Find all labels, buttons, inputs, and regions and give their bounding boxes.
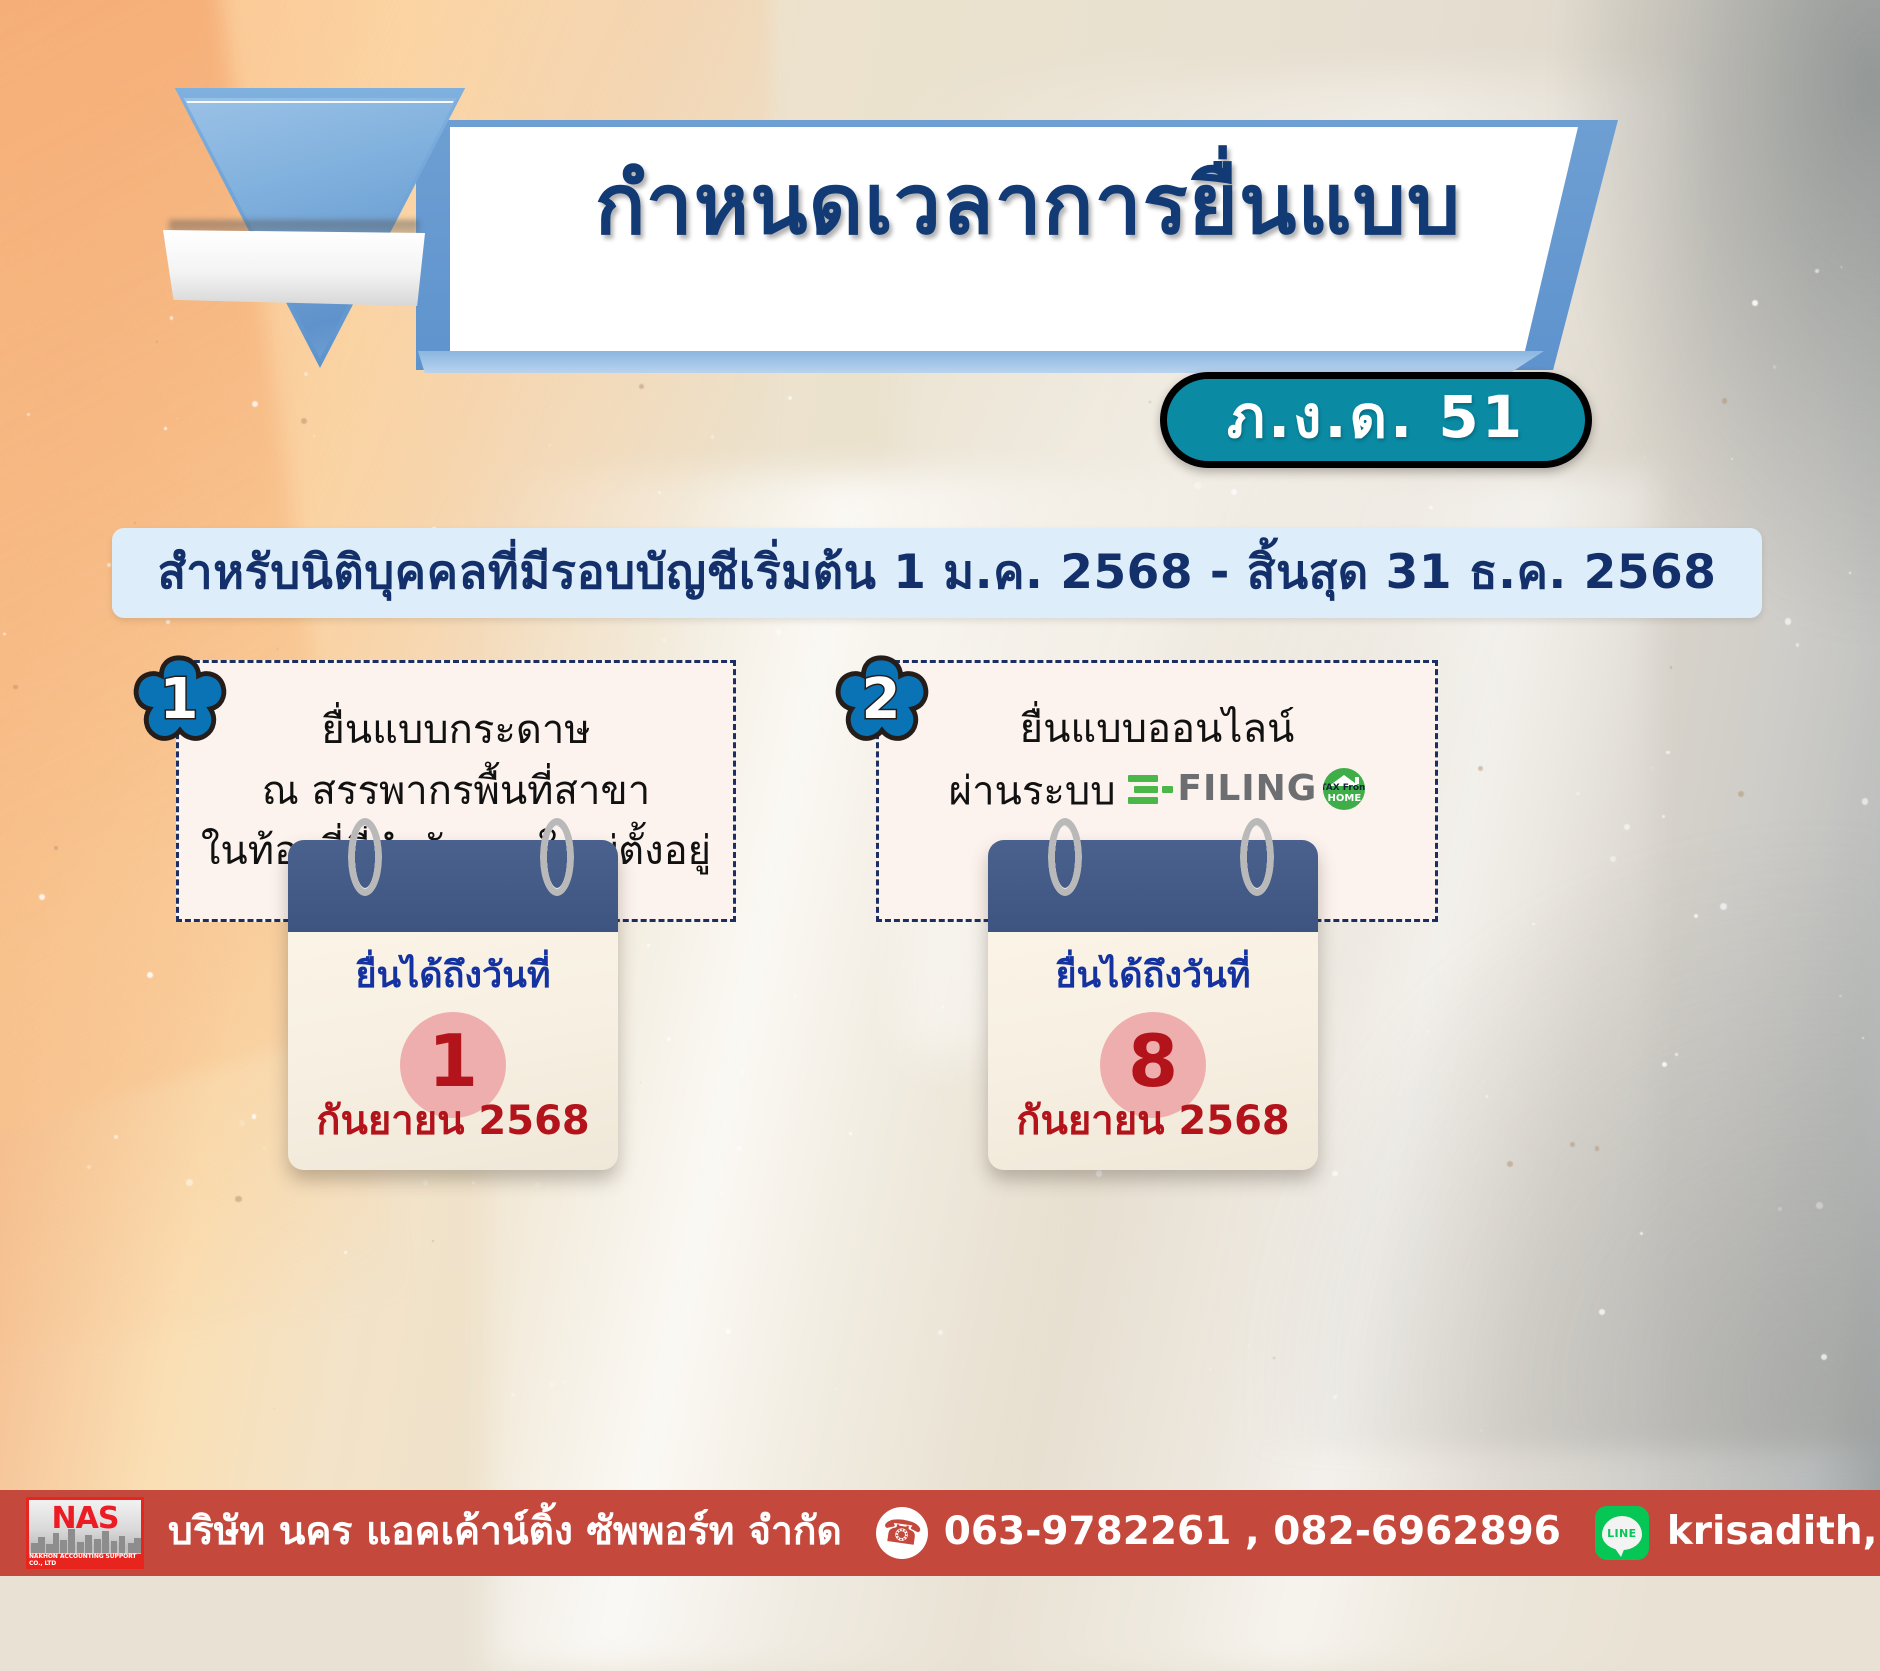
efiling-dash-icon [1162, 786, 1173, 793]
contact-footer: NAS NAKHON ACCOUNTING SUPPORT CO., LTD บ… [0, 1490, 1880, 1576]
calendar-2-month-year: กันยายน 2568 [988, 1088, 1318, 1152]
method-2-line-2-prefix: ผ่านระบบ [949, 768, 1116, 814]
calendar-ring-icon [348, 818, 382, 896]
accounting-period-text: สำหรับนิติบุคคลที่มีรอบบัญชีเริ่มต้น 1 ม… [158, 534, 1717, 609]
line-app-icon: LINE [1595, 1506, 1649, 1560]
method-2-number-badge: 2 [832, 652, 930, 750]
tax-from-label: TAX From [1323, 784, 1365, 793]
home-label: HOME [1328, 794, 1362, 804]
line-bubble-icon: LINE [1602, 1516, 1642, 1550]
triangle-funnel-icon [155, 88, 485, 368]
deadline-calendar-2: ยื่นได้ถึงวันที่ 8 กันยายน 2568 [988, 818, 1318, 1170]
footer-phone-numbers: 063-9782261 , 082-6962896 [944, 1509, 1561, 1554]
method-2-line-2: ผ่านระบบ FILING TAX From HOME [949, 760, 1366, 822]
page-title: กำหนดเวลาการยื่นแบบ [488, 148, 1568, 261]
footer-line-ids: krisadith, krisadithtk [1667, 1509, 1880, 1554]
calendar-ring-icon [1240, 818, 1274, 896]
method-1-number: 1 [130, 650, 228, 748]
form-code-label: ภ.ง.ด. 51 [1227, 370, 1525, 463]
efiling-e-icon [1128, 772, 1158, 806]
efiling-logo: FILING TAX From HOME [1128, 762, 1365, 817]
method-2-number: 2 [832, 650, 930, 748]
method-1-line-2: ณ สรรพากรพื้นที่สาขา [201, 761, 711, 822]
triangle-white-band [163, 230, 425, 306]
phone-icon: ☎ [876, 1507, 928, 1559]
method-1-line-1: ยื่นแบบกระดาษ [201, 700, 711, 761]
nas-logo-subtitle: NAKHON ACCOUNTING SUPPORT CO., LTD [29, 1554, 141, 1566]
footer-company-name: บริษัท นคร แอคเค้าน์ติ้ง ซัพพอร์ท จำกัด [168, 1500, 842, 1562]
tax-from-home-badge-icon: TAX From HOME [1323, 768, 1365, 810]
nas-company-logo: NAS NAKHON ACCOUNTING SUPPORT CO., LTD [26, 1497, 144, 1569]
method-2-line-1: ยื่นแบบออนไลน์ [949, 699, 1366, 760]
form-code-badge: ภ.ง.ด. 51 [1160, 372, 1592, 468]
method-1-number-badge: 1 [130, 652, 228, 750]
accounting-period-bar: สำหรับนิติบุคคลที่มีรอบบัญชีเริ่มต้น 1 ม… [112, 528, 1762, 618]
calendar-1-month-year: กันยายน 2568 [288, 1088, 618, 1152]
nas-logo-inner: NAS NAKHON ACCOUNTING SUPPORT CO., LTD [29, 1500, 141, 1566]
calendar-ring-icon [1048, 818, 1082, 896]
line-label: LINE [1607, 1527, 1636, 1540]
header-ribbon: กำหนดเวลาการยื่นแบบ [318, 120, 1618, 370]
calendar-ring-icon [540, 818, 574, 896]
phone-glyph: ☎ [880, 1510, 925, 1553]
calendar-2-label: ยื่นได้ถึงวันที่ [988, 946, 1318, 1003]
efiling-wordmark: FILING [1177, 762, 1317, 817]
nas-logo-word: NAS [52, 1504, 119, 1534]
calendar-1-label: ยื่นได้ถึงวันที่ [288, 946, 618, 1003]
deadline-calendar-1: ยื่นได้ถึงวันที่ 1 กันยายน 2568 [288, 818, 618, 1170]
